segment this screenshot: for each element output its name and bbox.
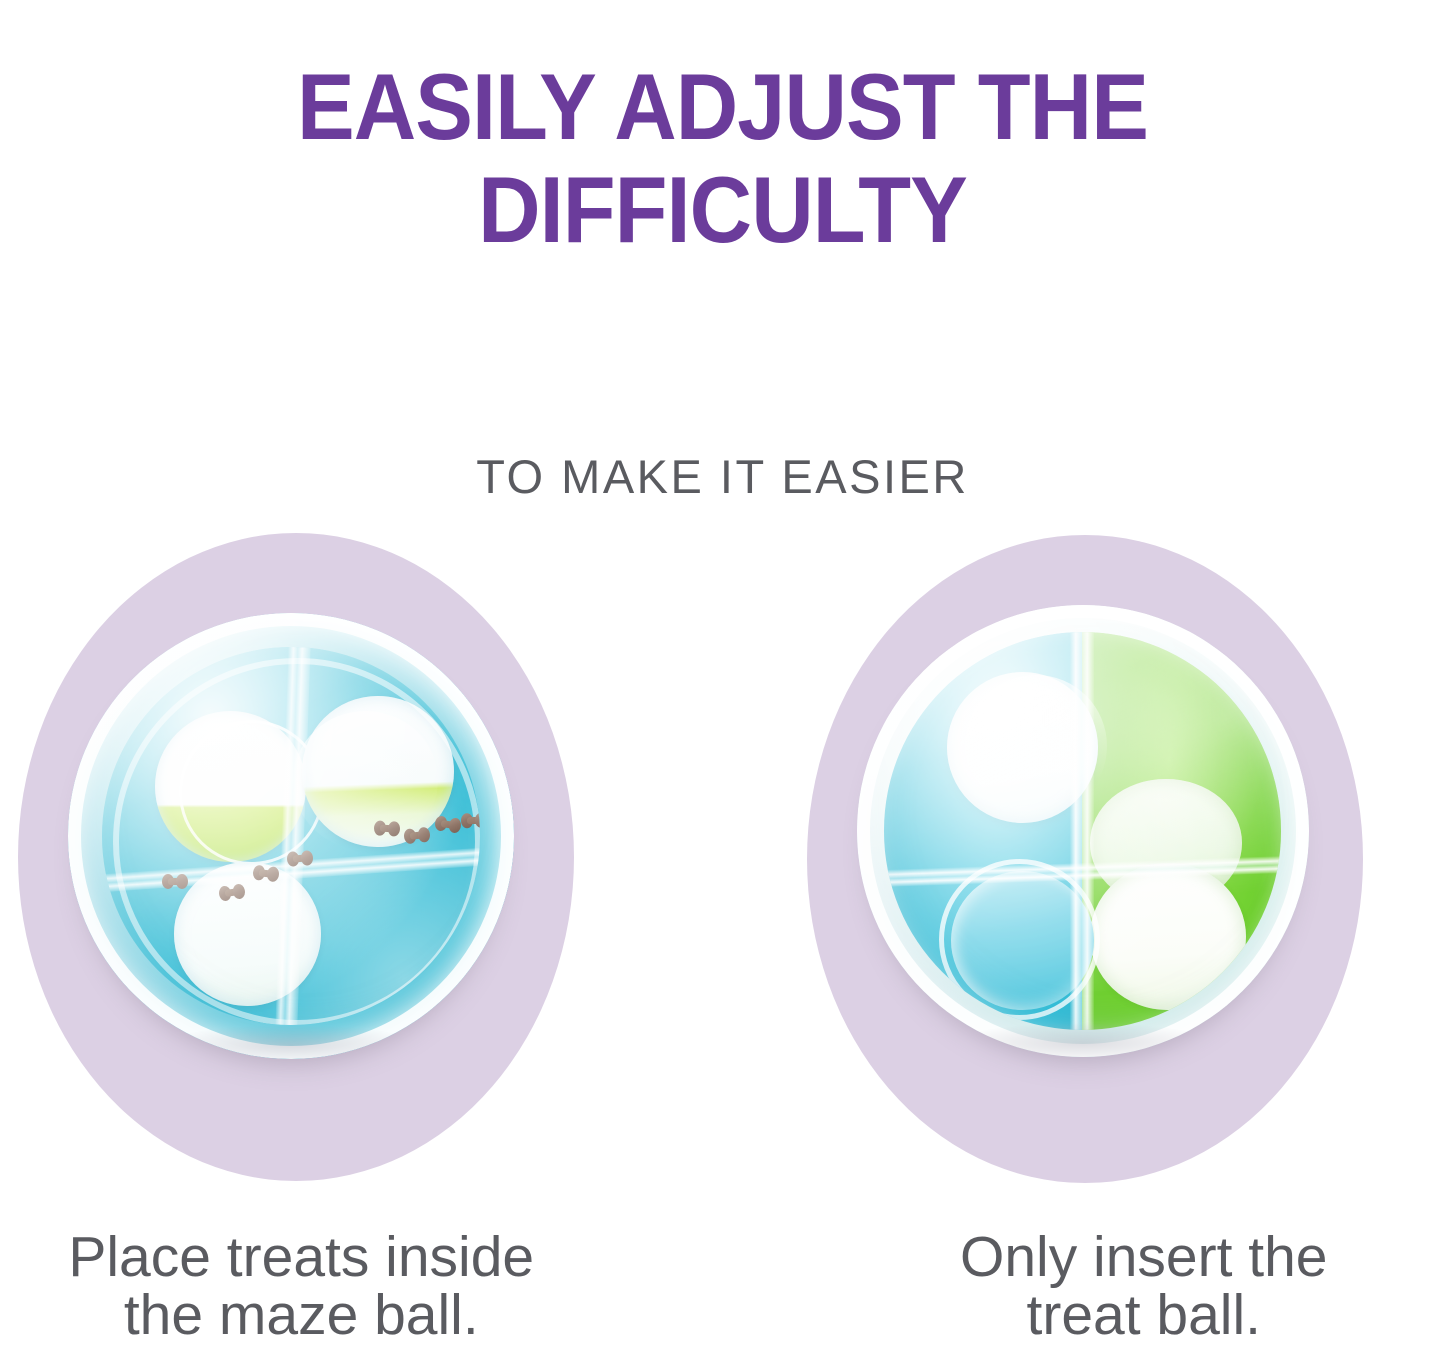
product-infographic: EASILY ADJUST THE DIFFICULTY TO MAKE IT … <box>0 0 1445 1338</box>
treat-vertical-divider <box>1070 632 1094 1030</box>
treat-window-bottom-right <box>1090 863 1245 1010</box>
treat-ball-core <box>884 632 1282 1030</box>
treat-piece <box>434 815 462 833</box>
maze-ball-panel <box>0 505 723 1205</box>
captions-row: Place treats inside the maze ball. Only … <box>0 1228 1445 1344</box>
treat-piece <box>162 874 188 889</box>
maze-ball-shell <box>68 613 514 1059</box>
treat-piece <box>374 820 401 836</box>
treat-piece <box>287 850 314 867</box>
treat-ball-image <box>857 605 1309 1057</box>
maze-ball-core <box>102 647 480 1025</box>
treat-ball-panel <box>723 505 1445 1205</box>
treat-piece <box>461 813 480 829</box>
treat-piece <box>404 827 431 845</box>
panels-row <box>0 505 1445 1205</box>
treat-ball-caption: Only insert the treat ball. <box>733 1228 1445 1344</box>
maze-ball-image <box>68 613 514 1059</box>
page-title: EASILY ADJUST THE DIFFICULTY <box>58 55 1387 261</box>
maze-ball-caption: Place treats inside the maze ball. <box>0 1228 733 1344</box>
treat-piece <box>252 865 279 883</box>
treat-ball-shell <box>857 605 1309 1057</box>
subtitle: TO MAKE IT EASIER <box>0 451 1445 503</box>
